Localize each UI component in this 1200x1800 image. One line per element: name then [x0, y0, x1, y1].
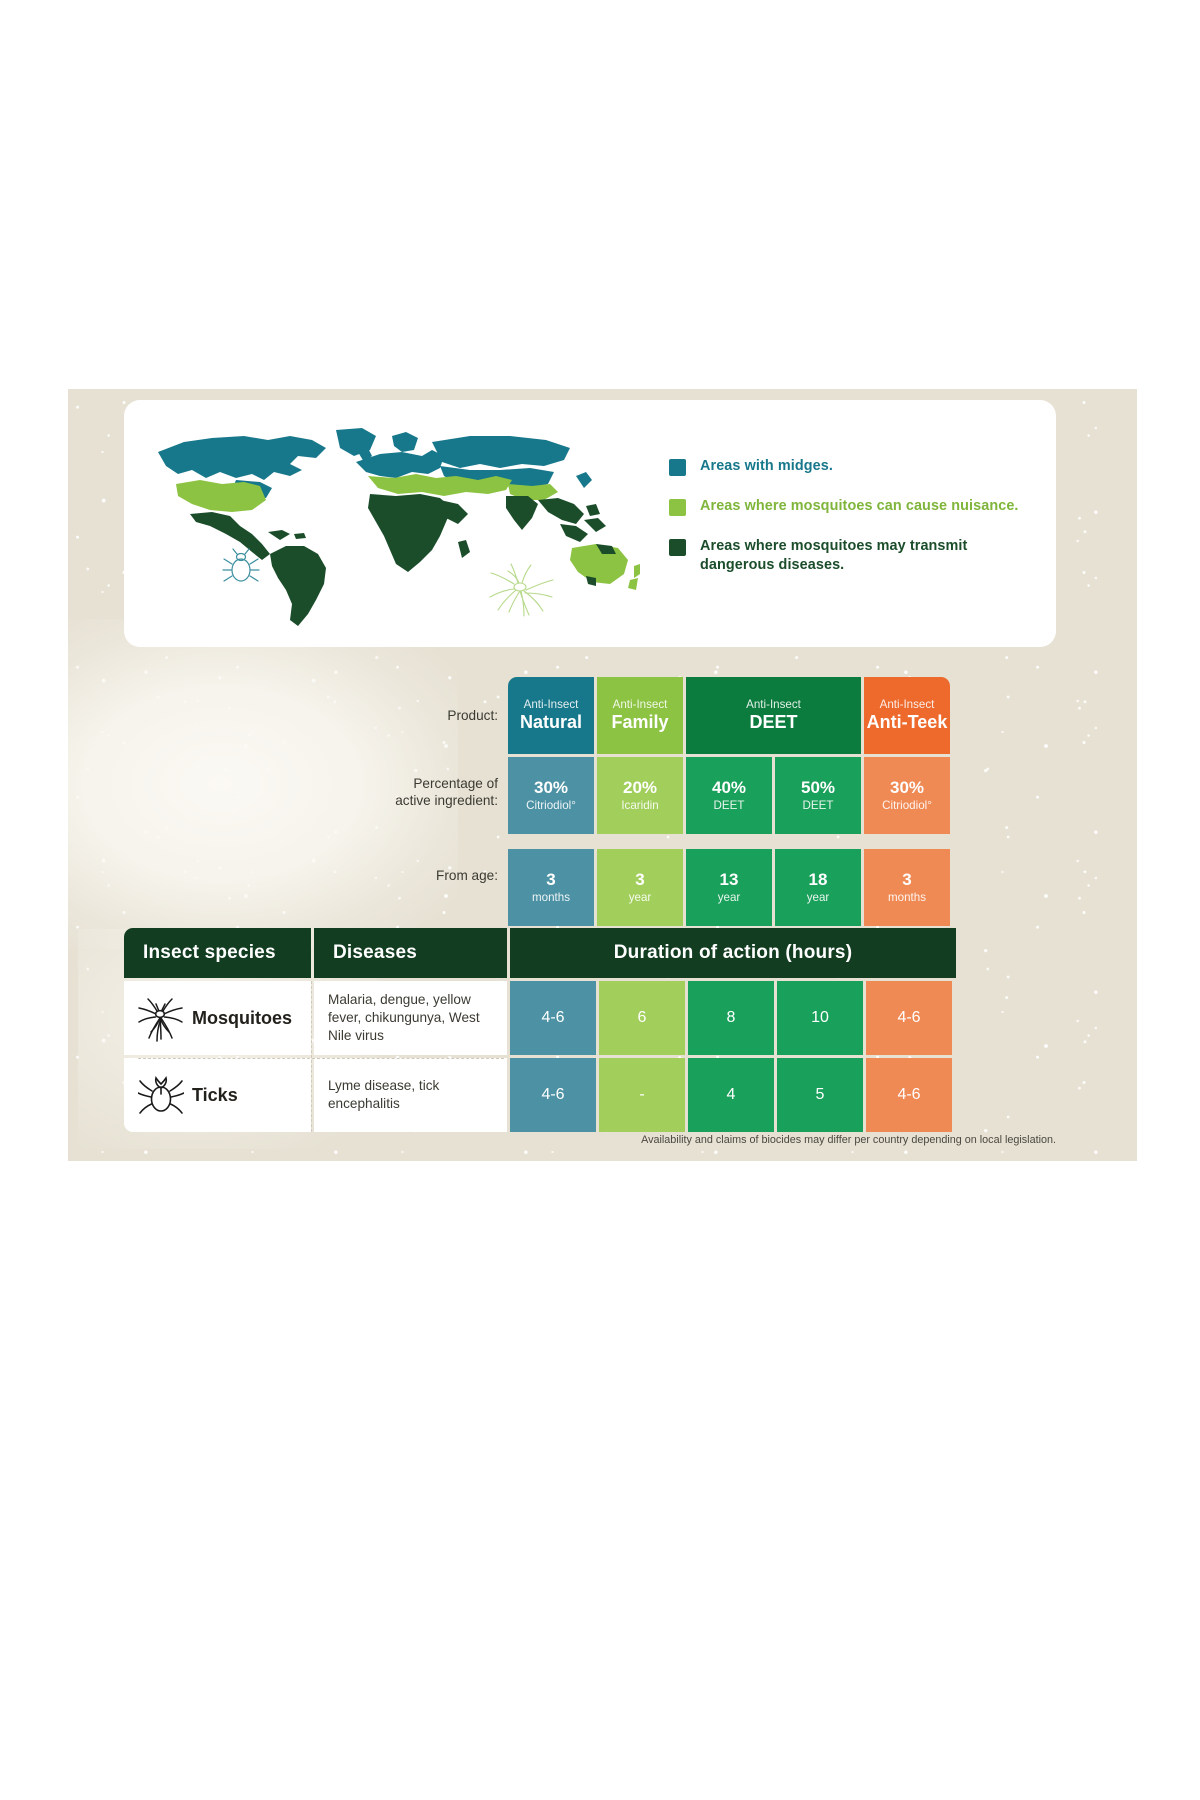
product-name: Natural: [520, 712, 582, 734]
product-cell-natural[interactable]: Anti-Insect Natural: [508, 677, 594, 754]
age-cell-anti-teek: 3 months: [864, 849, 950, 926]
world-map-graphic: [140, 414, 640, 629]
product-brand: Anti-Insect: [880, 698, 935, 711]
infographic-canvas: Areas with midges. Areas where mosquitoe…: [68, 389, 1137, 1161]
duration-cell-family-mosquitoes: 6: [599, 981, 685, 1055]
product-brand: Anti-Insect: [746, 698, 801, 711]
legend-swatch-dark-green: [669, 539, 686, 556]
ingredient-substance: DEET: [803, 799, 834, 813]
row-label-product: Product:: [368, 707, 498, 724]
ingredient-cell-natural: 30% Citriodiol°: [508, 757, 594, 834]
legend-label-nuisance: Areas where mosquitoes can cause nuisanc…: [700, 497, 1019, 516]
product-cells: Anti-Insect Natural Anti-Insect Family A…: [508, 677, 953, 929]
product-name: DEET: [749, 712, 797, 734]
row-label-from-age: From age:: [368, 867, 498, 884]
duration-cell-deet50-mosquitoes: 10: [777, 981, 863, 1055]
column-header-diseases: Diseases: [314, 928, 507, 978]
ingredient-percent: 30%: [534, 778, 568, 798]
legend-swatch-light-green: [669, 499, 686, 516]
ingredient-substance: Citriodiol°: [882, 799, 932, 813]
legend-swatch-teal: [669, 459, 686, 476]
row-label-percentage-line1: Percentage of: [368, 775, 498, 792]
legend-item-diseases: Areas where mosquitoes may transmit dang…: [669, 537, 1019, 575]
duration-cell-antiteek-ticks: 4-6: [866, 1058, 952, 1132]
age-value: 3: [546, 870, 555, 890]
diseases-cell-ticks: Lyme disease, tick encephalitis: [314, 1058, 507, 1132]
row-label-percentage-line2: active ingredient:: [368, 792, 498, 809]
age-cell-family: 3 year: [597, 849, 683, 926]
ingredient-percent: 40%: [712, 778, 746, 798]
footnote-text: Availability and claims of biocides may …: [508, 1134, 1056, 1146]
from-age-row: 3 months 3 year 13 year 18 year: [508, 849, 953, 926]
mosquito-icon: [138, 994, 184, 1042]
ingredient-cell-family: 20% Icaridin: [597, 757, 683, 834]
species-cell-mosquitoes: Mosquitoes: [124, 981, 311, 1055]
duration-cell-natural-ticks: 4-6: [510, 1058, 596, 1132]
age-unit: year: [807, 891, 830, 905]
species-label: Mosquitoes: [192, 1008, 292, 1029]
product-name: Family: [611, 712, 668, 734]
ingredient-substance: Citriodiol°: [526, 799, 576, 813]
column-header-duration: Duration of action (hours): [510, 928, 956, 978]
row-label-percentage: Percentage of active ingredient:: [368, 775, 498, 810]
infographic-page: Areas with midges. Areas where mosquitoe…: [0, 0, 1200, 1800]
product-cell-family[interactable]: Anti-Insect Family: [597, 677, 683, 754]
legend-item-midges: Areas with midges.: [669, 457, 1019, 476]
horizontal-divider: [138, 1058, 504, 1059]
midge-doodle-icon: [221, 546, 261, 588]
age-unit: months: [532, 891, 570, 905]
table-header-row: Insect species Diseases Duration of acti…: [124, 928, 1056, 978]
ingredient-substance: Icaridin: [621, 799, 658, 813]
comparison-table: Insect species Diseases Duration of acti…: [124, 928, 1056, 1132]
map-legend: Areas with midges. Areas where mosquitoe…: [669, 457, 1019, 597]
world-map-card: Areas with midges. Areas where mosquitoe…: [124, 400, 1056, 647]
age-value: 13: [720, 870, 739, 890]
product-brand: Anti-Insect: [524, 698, 579, 711]
age-value: 3: [635, 870, 644, 890]
age-unit: year: [718, 891, 741, 905]
ingredient-cell-anti-teek: 30% Citriodiol°: [864, 757, 950, 834]
ingredient-cell-deet-50: 50% DEET: [775, 757, 861, 834]
duration-cell-deet40-ticks: 4: [688, 1058, 774, 1132]
age-unit: months: [888, 891, 926, 905]
vertical-divider: [311, 981, 313, 1132]
table-row: Ticks Lyme disease, tick encephalitis 4-…: [124, 1058, 1056, 1132]
duration-cell-family-ticks: -: [599, 1058, 685, 1132]
age-value: 18: [809, 870, 828, 890]
age-cell-deet-40: 13 year: [686, 849, 772, 926]
table-row: Mosquitoes Malaria, dengue, yellow fever…: [124, 981, 1056, 1055]
ingredient-percent: 30%: [890, 778, 924, 798]
legend-label-diseases: Areas where mosquitoes may transmit dang…: [700, 537, 1019, 575]
product-header-row: Anti-Insect Natural Anti-Insect Family A…: [508, 677, 953, 754]
product-cell-anti-teek[interactable]: Anti-Insect Anti-Teek: [864, 677, 950, 754]
mosquito-doodle-icon: [489, 560, 555, 620]
ingredient-percent: 50%: [801, 778, 835, 798]
product-cell-deet[interactable]: Anti-Insect DEET: [686, 677, 861, 754]
age-value: 3: [902, 870, 911, 890]
legend-item-nuisance: Areas where mosquitoes can cause nuisanc…: [669, 497, 1019, 516]
product-name: Anti-Teek: [867, 712, 948, 734]
ingredient-percent: 20%: [623, 778, 657, 798]
age-unit: year: [629, 891, 652, 905]
diseases-cell-mosquitoes: Malaria, dengue, yellow fever, chikungun…: [314, 981, 507, 1055]
ingredient-substance: DEET: [714, 799, 745, 813]
tick-icon: [138, 1071, 184, 1119]
ingredient-cell-deet-40: 40% DEET: [686, 757, 772, 834]
species-cell-ticks: Ticks: [124, 1058, 311, 1132]
duration-cell-natural-mosquitoes: 4-6: [510, 981, 596, 1055]
active-ingredient-row: 30% Citriodiol° 20% Icaridin 40% DEET 50…: [508, 757, 953, 834]
species-label: Ticks: [192, 1085, 238, 1106]
legend-label-midges: Areas with midges.: [700, 457, 833, 476]
product-brand: Anti-Insect: [613, 698, 668, 711]
duration-cell-antiteek-mosquitoes: 4-6: [866, 981, 952, 1055]
column-header-insect-species: Insect species: [124, 928, 311, 978]
duration-cell-deet50-ticks: 5: [777, 1058, 863, 1132]
duration-cell-deet40-mosquitoes: 8: [688, 981, 774, 1055]
age-cell-natural: 3 months: [508, 849, 594, 926]
age-cell-deet-50: 18 year: [775, 849, 861, 926]
